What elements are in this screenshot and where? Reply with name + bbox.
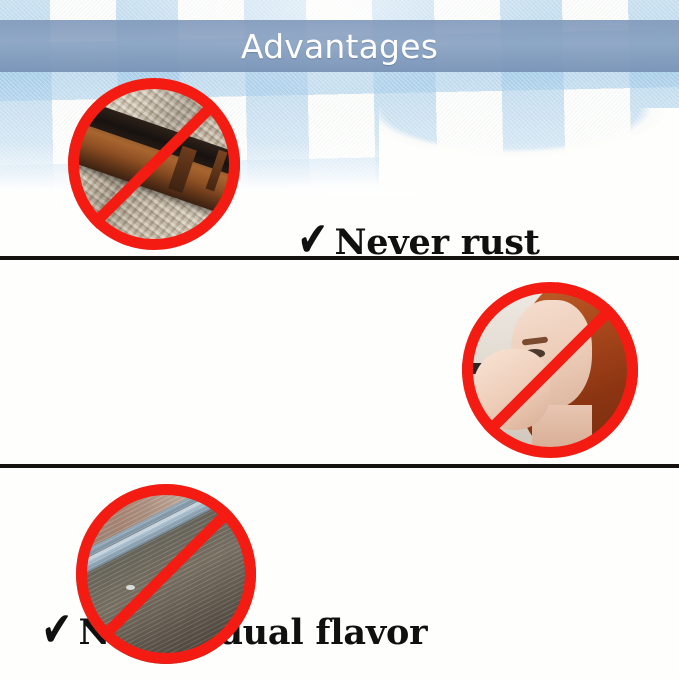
dull-blade-photo [76,484,256,664]
row-divider-2 [0,464,679,468]
woman-pinching-nose-photo [462,282,638,458]
advantages-infographic: Advantages ✔ Never rust ✔ No residual fl… [0,0,679,679]
prohibition-badge-rusty-pipe [68,78,240,250]
blade-grain-texture [76,484,256,664]
advantage-row-no-residual-flavor: ✔ No residual flavor [0,262,679,462]
woman-hand [473,349,550,430]
advantage-row-never-rust: ✔ Never rust [0,72,679,257]
prohibition-badge-dull-blade [76,484,256,664]
prohibition-badge-bad-smell [462,282,638,458]
header-band: Advantages [0,20,679,72]
rusty-pipe-photo [68,78,240,250]
advantage-row-not-dull-durable: ✔ Not dull, Durable [0,470,679,679]
page-title: Advantages [241,30,438,63]
row-divider-1 [0,256,679,260]
